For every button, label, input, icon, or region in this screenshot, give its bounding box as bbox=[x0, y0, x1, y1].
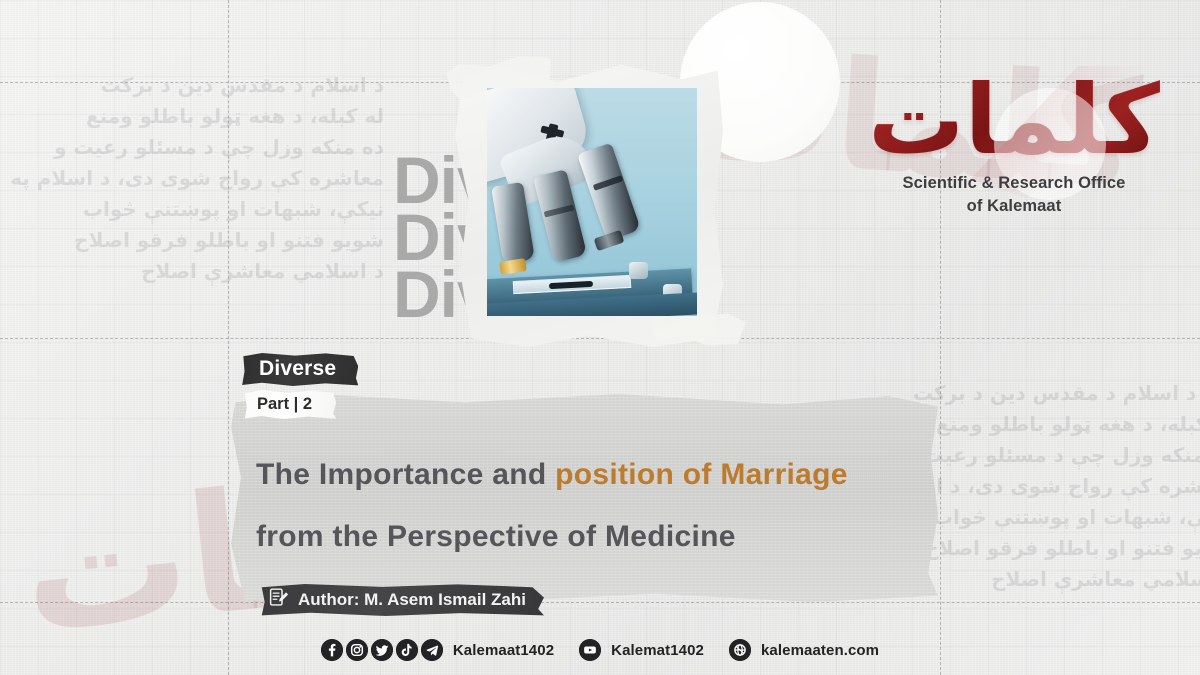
social-group-youtube: Kalemat1402 bbox=[579, 639, 720, 661]
page-title: The Importance and position of Marriage … bbox=[256, 444, 946, 568]
poster-canvas: د اسلام د مقدس دین د برکت له کبله، د هغه… bbox=[0, 0, 1200, 675]
globe-icon[interactable] bbox=[729, 639, 751, 661]
microscope-lens-3 bbox=[594, 230, 625, 251]
twitter-icon[interactable] bbox=[371, 639, 393, 661]
guide-line-vertical-left bbox=[228, 0, 229, 675]
background-arabic-text-left: د اسلام د مقدس دین د برکت له کبله، د هغه… bbox=[0, 70, 384, 287]
author-bar: Author: M. Asem Ismail Zahi bbox=[256, 584, 544, 616]
social-handle-youtube: Kalemat1402 bbox=[611, 642, 704, 659]
youtube-icon[interactable] bbox=[579, 639, 601, 661]
social-handle-main: Kalemaat1402 bbox=[453, 642, 554, 659]
social-group-main: Kalemaat1402 bbox=[321, 639, 570, 661]
microscope-objective-3 bbox=[577, 143, 641, 242]
page-title-line1: The Importance and position of Marriage bbox=[256, 444, 946, 506]
social-footer: Kalemaat1402 Kalemat1402 kalemaaten.com bbox=[0, 639, 1200, 661]
brand-name-line2: of Kalemaat bbox=[864, 195, 1164, 218]
microscope-photo bbox=[487, 88, 697, 316]
microscope-knob-1 bbox=[629, 262, 648, 279]
category-badge[interactable]: Diverse bbox=[241, 353, 358, 386]
social-handle-website: kalemaaten.com bbox=[761, 642, 879, 659]
instagram-icon[interactable] bbox=[346, 639, 368, 661]
page-title-highlight: position of Marriage bbox=[555, 458, 848, 491]
social-group-website: kalemaaten.com bbox=[729, 639, 879, 661]
brand-name-line1: Scientific & Research Office bbox=[864, 172, 1164, 195]
document-pencil-icon bbox=[268, 587, 289, 613]
page-title-line2: from the Perspective of Medicine bbox=[256, 506, 946, 568]
guide-line-horizontal-bottom bbox=[0, 602, 1200, 603]
brand-name: Scientific & Research Office of Kalemaat bbox=[864, 172, 1164, 218]
microscope-lens-1 bbox=[499, 258, 527, 275]
facebook-icon[interactable] bbox=[321, 639, 343, 661]
hero-photo-frame bbox=[455, 62, 723, 347]
category-badge-label: Diverse bbox=[259, 357, 336, 381]
part-badge-label: Part | 2 bbox=[257, 395, 312, 414]
page-title-plain: The Importance and bbox=[256, 458, 555, 491]
telegram-icon[interactable] bbox=[421, 639, 443, 661]
part-badge: Part | 2 bbox=[243, 390, 336, 419]
tiktok-icon[interactable] bbox=[396, 639, 418, 661]
author-label: Author: M. Asem Ismail Zahi bbox=[298, 590, 526, 610]
brand-block: كلمات Scientific & Research Office of Ka… bbox=[864, 72, 1164, 218]
kalemaat-logo-icon: كلمات bbox=[864, 72, 1164, 168]
